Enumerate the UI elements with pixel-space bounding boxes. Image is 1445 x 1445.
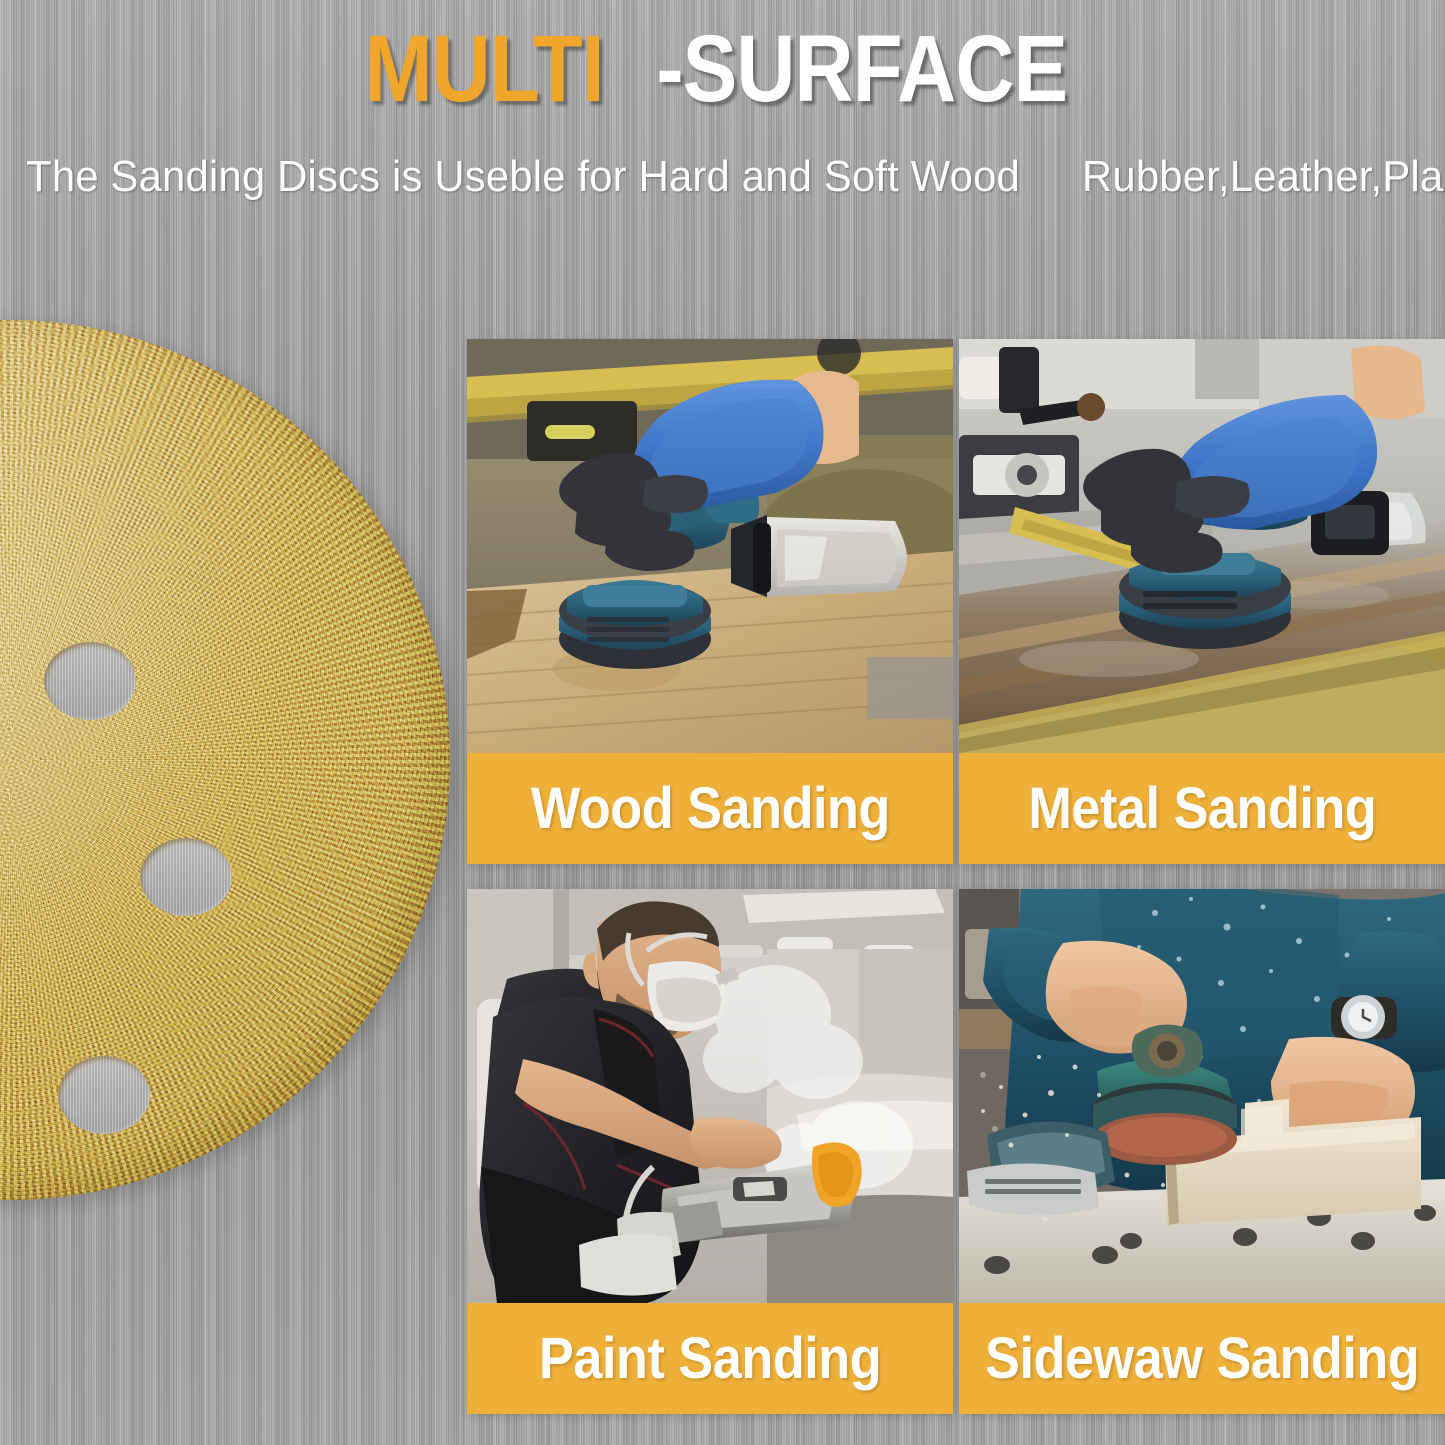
caption-label: Sidewaw Sanding <box>985 1325 1419 1392</box>
caption-label: Paint Sanding <box>539 1325 881 1392</box>
page-title: MULTI-SURFACE <box>0 22 1445 117</box>
page-title-rest: -SURFACE <box>656 22 1067 117</box>
page-subtitle-line-2: Rubber,Leather,Plastic,Stone, Gless and … <box>1082 148 1445 206</box>
product-infographic: MULTI-SURFACE The Sanding Discs is Usebl… <box>0 0 1445 1445</box>
panel-paint-sanding[interactable]: Paint Sanding <box>467 889 953 1414</box>
application-photo-grid: Wood Sanding <box>467 339 1445 1414</box>
caption-metal-sanding: Metal Sanding <box>959 753 1445 864</box>
photo-wood-sanding <box>467 339 953 753</box>
photo-paint-sanding <box>467 889 953 1303</box>
page-subtitle: The Sanding Discs is Useble for Hard and… <box>0 148 1445 206</box>
panel-sidewaw-sanding[interactable]: Sidewaw Sanding <box>959 889 1445 1414</box>
caption-sidewaw-sanding: Sidewaw Sanding <box>959 1303 1445 1414</box>
photo-sidewaw-sanding <box>959 889 1445 1303</box>
photo-metal-sanding <box>959 339 1445 753</box>
caption-wood-sanding: Wood Sanding <box>467 753 953 864</box>
page-subtitle-line-1: The Sanding Discs is Useble for Hard and… <box>26 148 1020 206</box>
panel-wood-sanding[interactable]: Wood Sanding <box>467 339 953 864</box>
caption-label: Wood Sanding <box>531 775 890 842</box>
caption-label: Metal Sanding <box>1028 775 1376 842</box>
panel-metal-sanding[interactable]: Metal Sanding <box>959 339 1445 864</box>
page-title-highlight: MULTI <box>364 22 603 117</box>
caption-paint-sanding: Paint Sanding <box>467 1303 953 1414</box>
